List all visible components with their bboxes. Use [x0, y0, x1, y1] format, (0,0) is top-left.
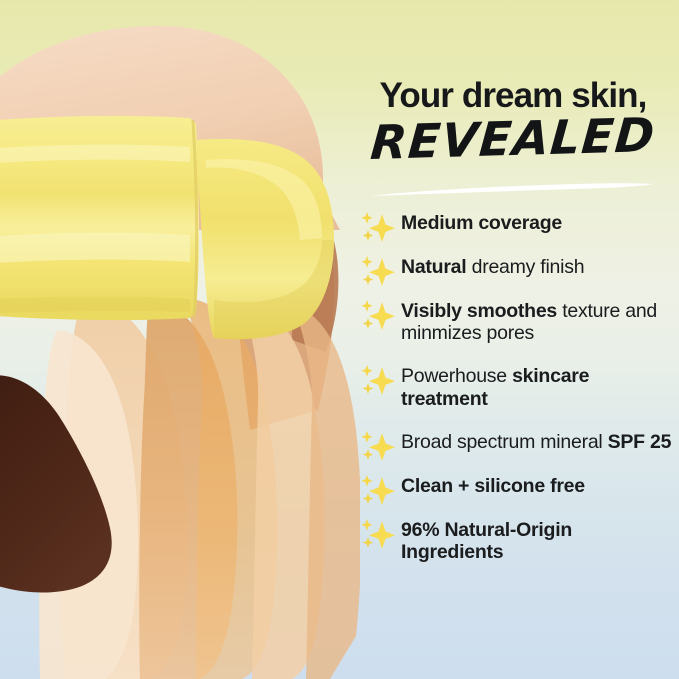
list-item: 96% Natural-Origin Ingredients [355, 519, 677, 565]
list-item: Visibly smoothes texture and minmizes po… [355, 300, 677, 346]
list-item-text: Visibly smoothes texture and minmizes po… [401, 300, 677, 346]
list-item-text: Clean + silicone free [401, 475, 585, 498]
list-item-text: Medium coverage [401, 212, 562, 235]
list-item: Powerhouse skincare treatment [355, 365, 677, 411]
sparkle-icon [359, 429, 397, 463]
list-item-bold: Natural [401, 256, 466, 278]
list-item: Clean + silicone free [355, 475, 677, 498]
sparkle-icon [359, 363, 397, 397]
list-item-text: 96% Natural-Origin Ingredients [401, 519, 677, 565]
list-item: Medium coverage [355, 212, 677, 235]
brushstroke-swoosh-icon [366, 182, 656, 198]
list-item-text: Powerhouse skincare treatment [401, 365, 677, 411]
list-item-text: Broad spectrum mineral SPF 25 [401, 431, 671, 454]
list-item-bold: Medium coverage [401, 212, 562, 234]
list-item: Natural dreamy finish [355, 256, 677, 279]
sparkle-icon [359, 517, 397, 551]
list-item-bold: Clean + silicone free [401, 475, 585, 497]
sparkle-icon [359, 254, 397, 288]
product-artwork [0, 0, 360, 679]
sparkle-icon [359, 210, 397, 244]
list-item-rest: dreamy finish [466, 256, 584, 278]
list-item: Broad spectrum mineral SPF 25 [355, 431, 677, 454]
list-item-lead: Broad spectrum mineral [401, 431, 608, 453]
benefits-list: Medium coverage Natural dreamy finish Vi… [355, 212, 677, 564]
list-item-bold: SPF 25 [608, 431, 672, 453]
list-item-bold: 96% Natural-Origin Ingredients [401, 519, 572, 564]
list-item-text: Natural dreamy finish [401, 256, 584, 279]
headline-block: Your dream skin, REVEALED [348, 78, 678, 163]
marketing-text-column: Your dream skin, REVEALED Medium coverag… [345, 0, 679, 679]
sparkle-icon [359, 473, 397, 507]
product-marketing-poster: Your dream skin, REVEALED Medium coverag… [0, 0, 679, 679]
list-item-lead: Powerhouse [401, 365, 512, 387]
headline-line-2: REVEALED [346, 112, 679, 168]
sparkle-icon [359, 298, 397, 332]
list-item-bold: Visibly smoothes [401, 300, 557, 322]
